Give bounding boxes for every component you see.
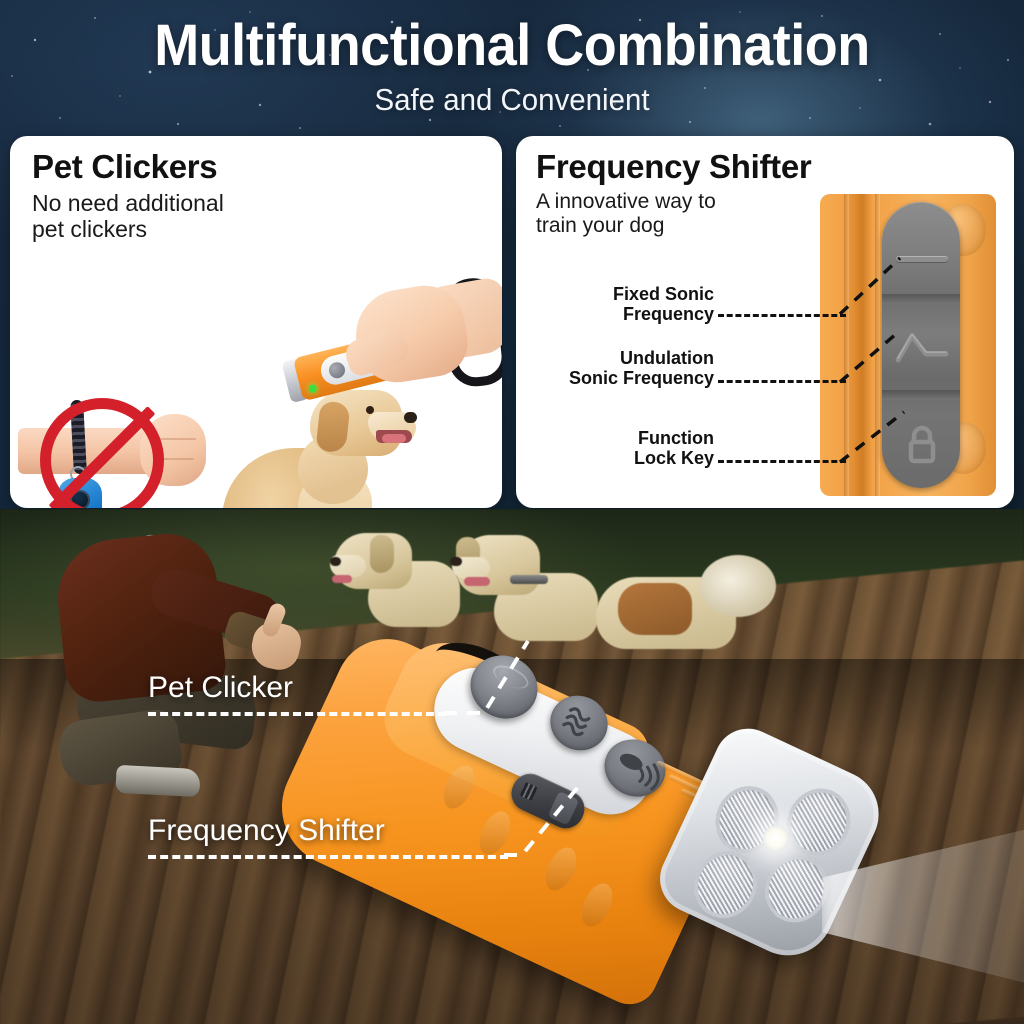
connector-diagonal-3 bbox=[838, 408, 908, 466]
slider-divider-2 bbox=[882, 390, 960, 400]
connector-diagonal-1 bbox=[838, 254, 904, 318]
connector-diagonal-2 bbox=[838, 330, 900, 386]
page-subtitle: Safe and Convenient bbox=[26, 82, 999, 118]
hand-holding-device-illustration bbox=[296, 278, 502, 448]
photo-underline-2 bbox=[148, 855, 508, 859]
background-dog-1 bbox=[330, 527, 460, 627]
ultrasonic-emitter-2 bbox=[776, 778, 861, 866]
dog1-tongue bbox=[332, 575, 352, 583]
photo-connector-1 bbox=[440, 635, 532, 717]
card-frequency-shifter: Frequency Shifter A innovative way to tr… bbox=[516, 136, 1014, 508]
device-button-1 bbox=[327, 361, 346, 380]
ultrasonic-emitter-3 bbox=[683, 841, 768, 929]
product-infographic: Multifunctional Combination Safe and Con… bbox=[0, 0, 1024, 1024]
zigzag-wave-icon bbox=[894, 330, 950, 364]
page-title: Multifunctional Combination bbox=[36, 12, 988, 79]
ultrasonic-dog-trainer-device bbox=[352, 614, 912, 984]
trainer-shoe bbox=[115, 765, 200, 797]
callout-fixed-sonic-frequency: Fixed Sonic Frequency bbox=[546, 284, 714, 325]
lifestyle-photo-scene: Pet Clicker Frequency Shifter bbox=[0, 509, 1024, 1024]
padlock-icon bbox=[904, 424, 940, 466]
right-card-title: Frequency Shifter bbox=[536, 148, 811, 186]
dog2-tongue bbox=[464, 577, 490, 586]
callout-function-lock-key: Function Lock Key bbox=[556, 428, 714, 469]
right-card-subtitle: A innovative way to train your dog bbox=[536, 190, 716, 238]
card-pet-clickers: Pet Clickers No need additional pet clic… bbox=[10, 136, 502, 508]
dog1-nose bbox=[330, 557, 341, 566]
dog2-nose bbox=[450, 557, 462, 566]
photo-underline-1 bbox=[148, 712, 446, 716]
photo-label-pet-clicker: Pet Clicker bbox=[148, 671, 293, 705]
ultrasonic-emitter-4 bbox=[754, 845, 839, 933]
device-emitter-head bbox=[649, 718, 893, 971]
left-card-subtitle: No need additional pet clickers bbox=[32, 190, 224, 242]
dog1-ear bbox=[370, 535, 394, 573]
connector-line-3 bbox=[718, 460, 846, 463]
callout-undulation-sonic-frequency: Undulation Sonic Frequency bbox=[530, 348, 714, 389]
dog3-tail bbox=[700, 555, 776, 617]
connector-line-2 bbox=[718, 380, 846, 383]
connector-line-1 bbox=[718, 314, 846, 317]
photo-connector-2 bbox=[502, 781, 582, 859]
left-card-title: Pet Clickers bbox=[32, 148, 217, 186]
photo-label-frequency-shifter: Frequency Shifter bbox=[148, 814, 385, 848]
dog2-collar bbox=[510, 575, 548, 584]
